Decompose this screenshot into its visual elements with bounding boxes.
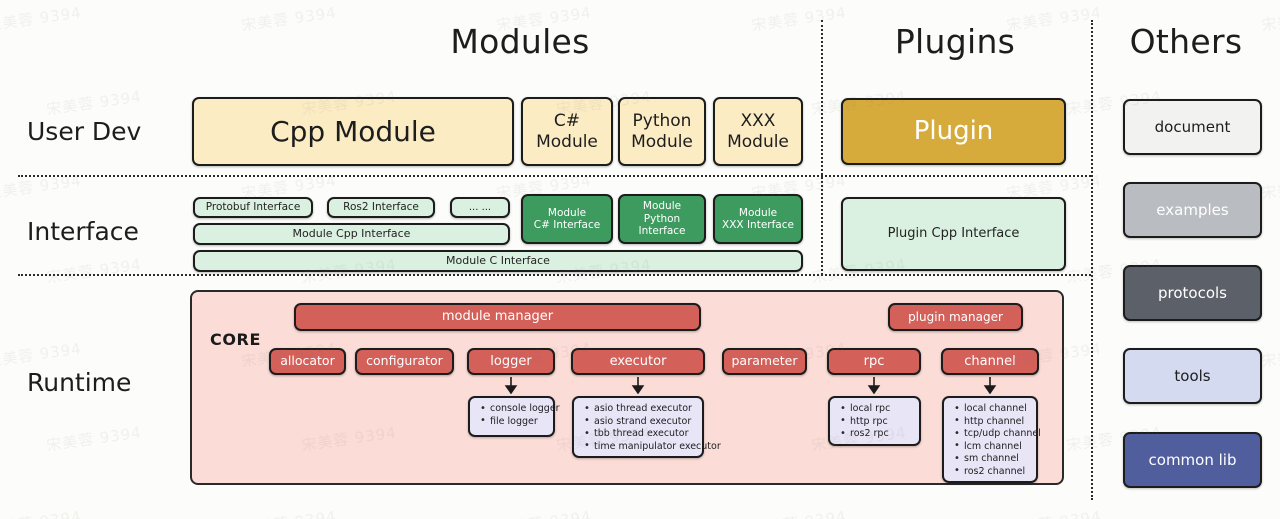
- box-configurator[interactable]: configurator: [355, 348, 454, 375]
- box-rpc[interactable]: rpc: [827, 348, 921, 375]
- box-configurator-label: configurator: [366, 354, 443, 369]
- divider-plugins-others: [1091, 20, 1093, 500]
- box-module-python-interface[interactable]: Module Python Interface: [618, 194, 706, 244]
- box-module-manager[interactable]: module manager: [294, 303, 701, 331]
- box-csharp-module[interactable]: C# Module: [521, 97, 613, 166]
- box-module-xxx-interface-label: Module XXX Interface: [722, 207, 794, 232]
- divider-interface-runtime: [18, 274, 1091, 276]
- watermark-text: 宋美蓉 9394: [1260, 337, 1280, 371]
- box-executor[interactable]: executor: [571, 348, 705, 375]
- box-module-c-interface-label: Module C Interface: [446, 255, 550, 268]
- arrow-channel-down: [983, 377, 997, 394]
- watermark-text: 宋美蓉 9394: [1260, 505, 1280, 519]
- list-item: asio strand executor: [594, 416, 696, 429]
- column-title-others: Others: [1098, 22, 1274, 61]
- box-module-cpp-interface-label: Module Cpp Interface: [293, 228, 411, 241]
- box-plugin-manager-label: plugin manager: [908, 310, 1003, 324]
- divider-user-dev-interface: [18, 175, 1091, 177]
- list-executor-details[interactable]: asio thread executorasio strand executor…: [572, 396, 704, 458]
- list-item: sm channel: [964, 453, 1030, 466]
- box-plugin-manager[interactable]: plugin manager: [888, 303, 1023, 331]
- watermark-text: 宋美蓉 9394: [0, 337, 83, 371]
- box-ros2-interface-label: Ros2 Interface: [343, 201, 419, 213]
- box-others-protocols-label: protocols: [1158, 284, 1227, 302]
- list-channel-details[interactable]: local channelhttp channeltcp/udp channel…: [942, 396, 1038, 483]
- list-item: http channel: [964, 416, 1030, 429]
- list-item: asio thread executor: [594, 403, 696, 416]
- executor-detail-items: asio thread executorasio strand executor…: [582, 403, 696, 453]
- watermark-text: 宋美蓉 9394: [0, 505, 83, 519]
- watermark-text: 宋美蓉 9394: [495, 505, 593, 519]
- box-module-manager-label: module manager: [442, 309, 553, 324]
- watermark-text: 宋美蓉 9394: [240, 505, 338, 519]
- box-logger[interactable]: logger: [467, 348, 555, 375]
- box-module-c-interface[interactable]: Module C Interface: [193, 250, 803, 272]
- box-others-common-lib-label: common lib: [1149, 451, 1237, 469]
- box-rpc-label: rpc: [864, 354, 885, 369]
- box-channel[interactable]: channel: [941, 348, 1039, 375]
- logger-detail-items: console loggerfile logger: [478, 403, 547, 428]
- box-logger-label: logger: [490, 354, 531, 369]
- column-title-modules: Modules: [250, 22, 790, 61]
- box-others-examples-label: examples: [1156, 201, 1228, 219]
- box-protobuf-interface[interactable]: Protobuf Interface: [193, 197, 313, 218]
- rpc-detail-items: local rpchttp rpcros2 rpc: [838, 403, 913, 441]
- box-parameter[interactable]: parameter: [722, 348, 807, 375]
- list-item: console logger: [490, 403, 547, 416]
- box-allocator[interactable]: allocator: [269, 348, 346, 375]
- list-item: file logger: [490, 416, 547, 429]
- box-executor-label: executor: [610, 354, 667, 369]
- box-python-module[interactable]: Python Module: [618, 97, 706, 166]
- watermark-text: 宋美蓉 9394: [45, 421, 143, 455]
- row-label-user-dev: User Dev: [27, 117, 141, 146]
- box-channel-label: channel: [964, 354, 1015, 369]
- box-others-common-lib[interactable]: common lib: [1123, 432, 1262, 488]
- box-ros2-interface[interactable]: Ros2 Interface: [327, 197, 435, 218]
- box-module-csharp-interface-label: Module C# Interface: [534, 207, 600, 232]
- list-item: tcp/udp channel: [964, 428, 1030, 441]
- list-rpc-details[interactable]: local rpchttp rpcros2 rpc: [828, 396, 921, 446]
- watermark-text: 宋美蓉 9394: [0, 1, 83, 35]
- box-allocator-label: allocator: [280, 354, 334, 369]
- list-item: local rpc: [850, 403, 913, 416]
- watermark-text: 宋美蓉 9394: [45, 85, 143, 119]
- box-plugin-cpp-interface[interactable]: Plugin Cpp Interface: [841, 197, 1066, 271]
- arrow-logger-down: [504, 377, 518, 394]
- box-more-interface-label: ... ...: [469, 202, 491, 214]
- list-item: time manipulator executor: [594, 441, 696, 454]
- box-xxx-module[interactable]: XXX Module: [713, 97, 803, 166]
- box-cpp-module[interactable]: Cpp Module: [192, 97, 514, 166]
- box-module-cpp-interface[interactable]: Module Cpp Interface: [193, 223, 510, 245]
- box-cpp-module-label: Cpp Module: [270, 115, 436, 148]
- list-logger-details[interactable]: console loggerfile logger: [468, 396, 555, 437]
- box-protobuf-interface-label: Protobuf Interface: [206, 201, 301, 213]
- list-item: tbb thread executor: [594, 428, 696, 441]
- box-others-tools[interactable]: tools: [1123, 348, 1262, 404]
- box-plugin-cpp-interface-label: Plugin Cpp Interface: [888, 226, 1020, 241]
- box-module-csharp-interface[interactable]: Module C# Interface: [521, 194, 613, 244]
- column-title-plugins: Plugins: [830, 22, 1080, 61]
- list-item: ros2 channel: [964, 466, 1030, 479]
- box-csharp-module-label: C# Module: [536, 111, 598, 151]
- watermark-text: 宋美蓉 9394: [1005, 505, 1103, 519]
- arrow-rpc-down: [867, 377, 881, 394]
- box-python-module-label: Python Module: [631, 111, 693, 151]
- box-plugin[interactable]: Plugin: [841, 98, 1066, 165]
- box-others-examples[interactable]: examples: [1123, 182, 1262, 238]
- watermark-text: 宋美蓉 9394: [750, 505, 848, 519]
- arrow-executor-down: [631, 377, 645, 394]
- list-item: local channel: [964, 403, 1030, 416]
- watermark-text: 宋美蓉 9394: [1260, 169, 1280, 203]
- box-more-interface[interactable]: ... ...: [450, 197, 510, 218]
- box-parameter-label: parameter: [732, 354, 798, 369]
- architecture-diagram: 宋美蓉 9394宋美蓉 9394宋美蓉 9394宋美蓉 9394宋美蓉 9394…: [0, 0, 1280, 519]
- box-others-tools-label: tools: [1174, 367, 1210, 385]
- box-others-document-label: document: [1155, 118, 1231, 136]
- core-label: CORE: [210, 330, 261, 349]
- list-item: lcm channel: [964, 441, 1030, 454]
- list-item: ros2 rpc: [850, 428, 913, 441]
- row-label-runtime: Runtime: [27, 368, 131, 397]
- list-item: http rpc: [850, 416, 913, 429]
- box-plugin-label: Plugin: [914, 116, 994, 147]
- box-module-xxx-interface[interactable]: Module XXX Interface: [713, 194, 803, 244]
- box-others-protocols[interactable]: protocols: [1123, 265, 1262, 321]
- divider-modules-plugins: [821, 20, 823, 275]
- row-label-interface: Interface: [27, 217, 139, 246]
- channel-detail-items: local channelhttp channeltcp/udp channel…: [952, 403, 1030, 479]
- box-xxx-module-label: XXX Module: [727, 111, 789, 151]
- box-module-python-interface-label: Module Python Interface: [620, 200, 704, 237]
- box-others-document[interactable]: document: [1123, 99, 1262, 155]
- watermark-text: 宋美蓉 9394: [45, 253, 143, 287]
